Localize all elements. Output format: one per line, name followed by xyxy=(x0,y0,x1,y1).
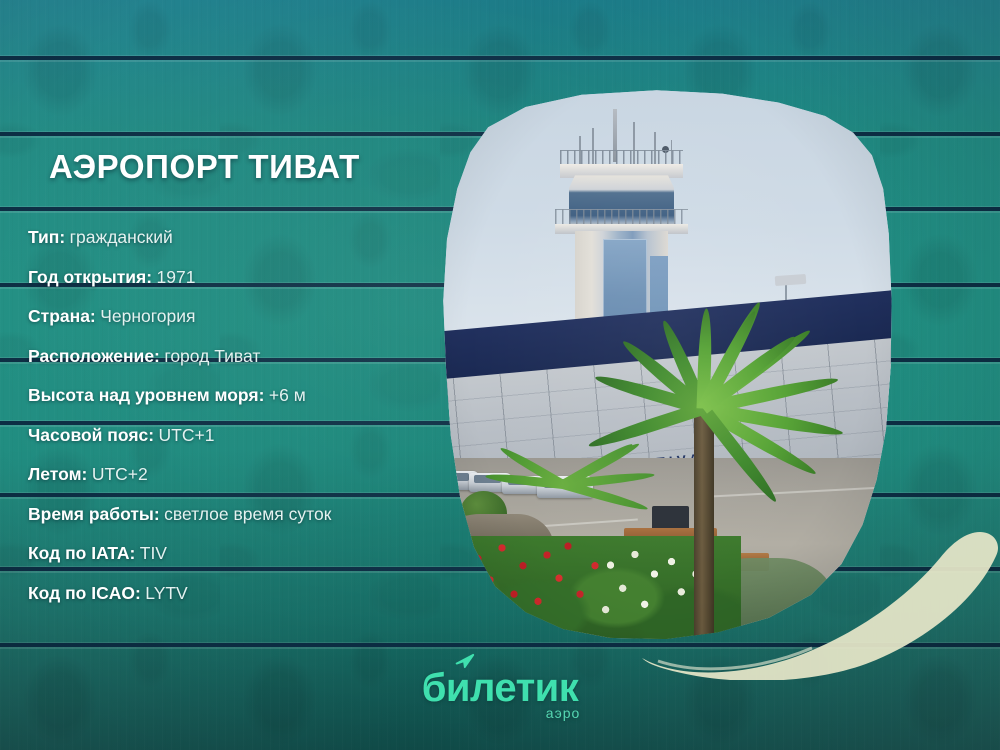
spec-row: Тип: гражданский xyxy=(28,218,438,258)
logo-subtext: аэро xyxy=(546,706,581,720)
spec-label: Время работы: xyxy=(28,504,160,524)
spec-label: Код по ICAO: xyxy=(28,583,141,603)
tower-lower-railing xyxy=(555,209,689,225)
spec-label: Год открытия: xyxy=(28,267,152,287)
spec-label: Часовой пояс: xyxy=(28,425,154,445)
spec-row: Расположение: город Тиват xyxy=(28,337,438,377)
slide-canvas: АЭРОПОРТ ТИВАТ Тип: гражданский Год откр… xyxy=(0,0,1000,750)
spec-value: UTC+2 xyxy=(92,464,148,484)
tower-upper-railing xyxy=(560,150,683,166)
spec-row: Код по IATA: TIV xyxy=(28,534,438,574)
spec-label: Код по IATA: xyxy=(28,543,135,563)
brand-logo[interactable]: билетик аэро xyxy=(0,668,1000,708)
spec-row: Время работы: светлое время суток xyxy=(28,495,438,535)
logo-wordmark: билетик аэро xyxy=(422,668,579,708)
page-title: АЭРОПОРТ ТИВАТ xyxy=(49,148,360,186)
spec-value: TIV xyxy=(140,543,167,563)
spec-value: 1971 xyxy=(157,267,196,287)
info-panel: АЭРОПОРТ ТИВАТ Тип: гражданский Год откр… xyxy=(0,0,440,750)
spec-value: светлое время суток xyxy=(164,504,331,524)
spec-label: Страна: xyxy=(28,306,96,326)
spec-row: Страна: Черногория xyxy=(28,297,438,337)
airplane-icon xyxy=(454,653,476,669)
spec-value: город Тиват xyxy=(164,346,260,366)
spec-label: Летом: xyxy=(28,464,87,484)
spec-value: UTC+1 xyxy=(159,425,215,445)
spec-value: гражданский xyxy=(70,227,173,247)
spec-row: Код по ICAO: LYTV xyxy=(28,574,438,614)
spec-value: +6 м xyxy=(269,385,306,405)
spec-list: Тип: гражданский Год открытия: 1971 Стра… xyxy=(28,218,438,613)
spec-value: LYTV xyxy=(145,583,187,603)
spec-row: Часовой пояс: UTC+1 xyxy=(28,416,438,456)
spec-row: Высота над уровнем моря: +6 м xyxy=(28,376,438,416)
spec-row: Летом: UTC+2 xyxy=(28,455,438,495)
spec-label: Высота над уровнем моря: xyxy=(28,385,264,405)
spec-value: Черногория xyxy=(100,306,195,326)
spec-row: Год открытия: 1971 xyxy=(28,258,438,298)
spec-label: Расположение: xyxy=(28,346,160,366)
airport-photo: AERODROM TIVAT xyxy=(432,88,900,648)
spec-label: Тип: xyxy=(28,227,65,247)
palm-trunk xyxy=(694,402,714,648)
bench-backrest xyxy=(652,506,689,531)
logo-text: билетик xyxy=(422,666,579,710)
